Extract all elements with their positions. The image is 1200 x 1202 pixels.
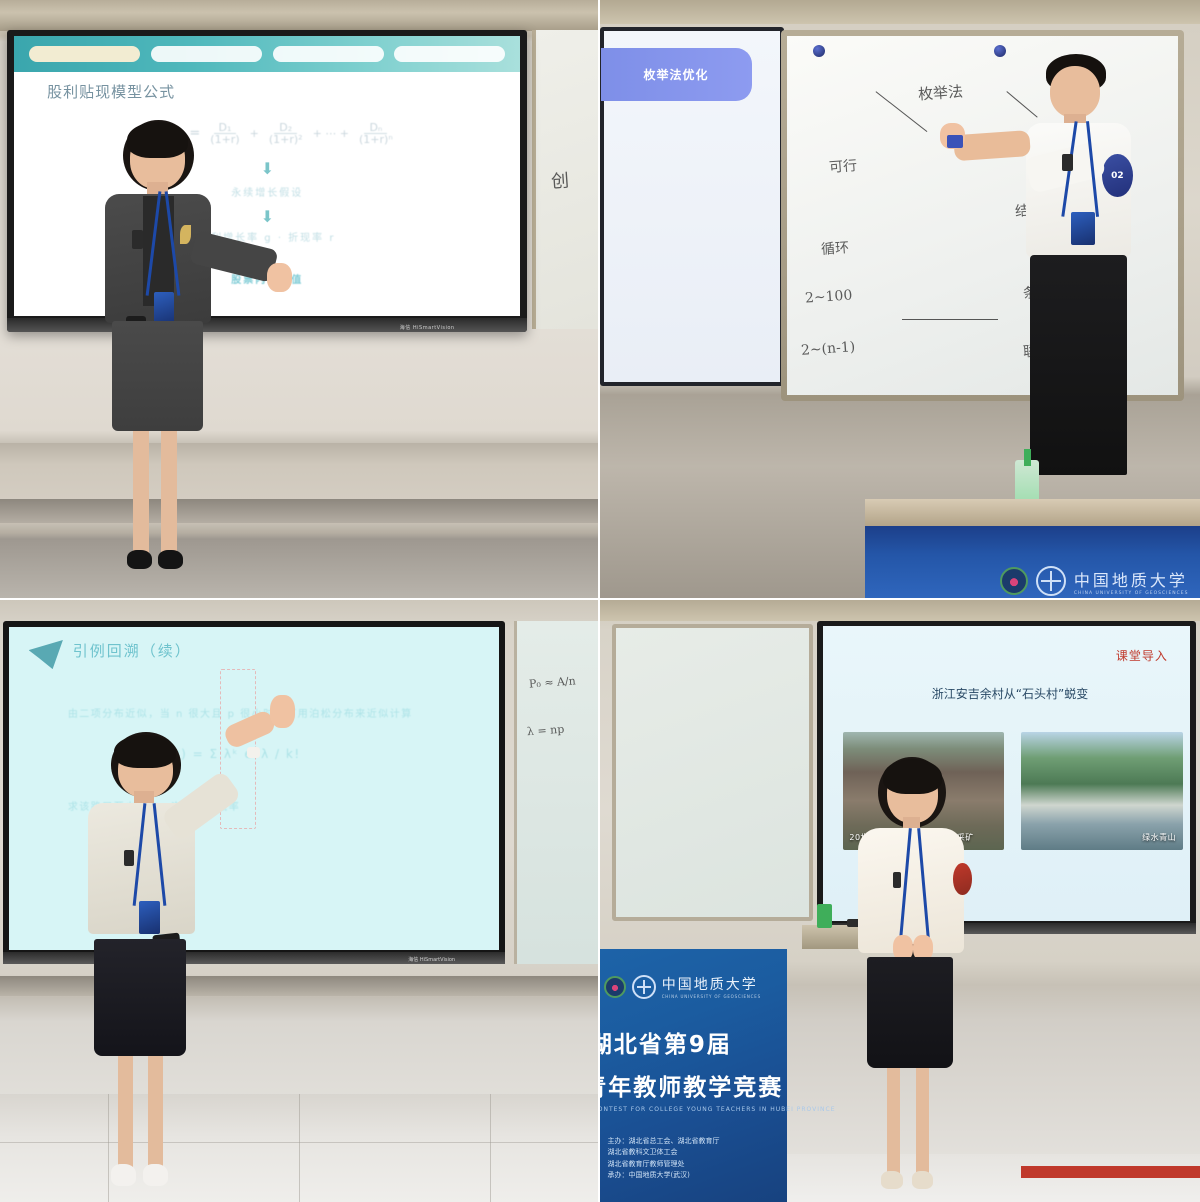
side-whiteboard [612,624,813,921]
hair [114,735,176,768]
slide-logo-icon [29,640,63,669]
university-seal-icon [1036,566,1066,596]
right-leg [148,1056,163,1169]
floor-red-stripe [1021,1166,1200,1178]
green-bottle-icon [817,904,832,928]
podium-top [865,499,1200,526]
presenter-figure: 02 [961,54,1142,532]
slide-banner-title: 枚举法优化 [644,66,709,83]
whiteboard-text-0: 枚举法 [917,80,963,104]
hair [127,122,188,158]
university-seal-icon [632,975,656,999]
slide-photo-caption: 绿水青山 [1142,832,1176,843]
right-leg [161,431,177,555]
left-hand [270,695,295,728]
slide-tab-2[interactable] [273,46,384,63]
green-seal-icon [604,976,626,998]
left-shoe [881,1171,903,1189]
projection-screen[interactable]: 枚举法优化 [600,27,784,386]
podium: 中国地质大学 CHINA UNIVERSITY OF GEOSCIENCES [865,526,1200,598]
banner-institution-en: CHINA UNIVERSITY OF GEOSCIENCES [662,994,761,999]
wristband [247,747,260,758]
slide-canvas: 枚举法优化 [604,31,780,382]
presenter-figure [84,120,239,598]
id-badge [139,901,159,934]
side-whiteboard: P₀ ≈ A/n λ = np [514,621,598,964]
magnet-icon [813,45,825,57]
ceiling-trim [600,0,1200,24]
whiteboard-text-5: 2~100 [804,288,852,307]
slide-photo-right: 绿水青山 [1021,732,1183,850]
head [1050,66,1101,119]
whiteboard-text-1: 可行 [828,155,857,177]
right-hand [267,263,292,292]
ceiling-trim [600,600,1200,621]
slide-header-bar [14,36,520,72]
slide-banner: 枚举法优化 [601,48,752,101]
whiteboard-text-0: P₀ ≈ A/n [529,674,577,690]
slide-tab-3[interactable] [394,46,505,63]
panel-top-left: 创 股利贴现模型公式 P₀ = D₁(1+r) + D₂(1+r)² + ⋯ +… [0,0,598,598]
panel-bottom-right: 课堂导入 浙江安吉余村从“石头村”蜕变 20世纪80年代，余村人开山采矿 绿水青… [600,600,1200,1202]
trousers [1030,255,1128,475]
left-shoe [127,550,152,569]
number-badge [953,863,972,894]
slide-tab-0[interactable] [29,46,140,63]
floor-tile-line [490,1094,491,1202]
banner-institution: 中国地质大学 [662,974,761,994]
left-forearm [953,130,1030,162]
left-leg [118,1056,133,1169]
display-brand-label: 海信 HiSmartVision [408,956,455,963]
podium-logo: 中国地质大学 CHINA UNIVERSITY OF GEOSCIENCES [1000,566,1189,596]
banner-organizers: 主办：湖北省总工会、湖北省教育厅 湖北省教科文卫体工会 湖北省教育厅教师管理处 … [607,1136,781,1181]
right-leg [916,1068,929,1175]
spray-nozzle-icon [1024,449,1031,467]
whiteboard-handwriting: 创 [550,167,570,194]
slide-tab-1[interactable] [151,46,262,63]
presenter-figure [66,732,233,1202]
competition-banner: 中国地质大学 CHINA UNIVERSITY OF GEOSCIENCES 湖… [600,949,787,1202]
number-badge: 02 [1102,154,1133,197]
lapel-microphone [132,230,143,249]
left-shoe [111,1164,136,1185]
podium-institution: 中国地质大学 [1074,567,1189,591]
lapel-pin-icon [180,225,191,244]
left-leg [133,431,149,555]
slide-title: 课堂导入 [1116,647,1168,664]
banner-logo: 中国地质大学 CHINA UNIVERSITY OF GEOSCIENCES [604,974,761,999]
floor-tile-line [299,1094,300,1202]
banner-headline-1-text: 湖北省第9届 [600,1032,732,1058]
whiteboard-text-7: 2~(n-1) [800,339,855,359]
podium-institution-en: CHINA UNIVERSITY OF GEOSCIENCES [1074,591,1189,596]
blouse [858,828,963,953]
slide-subtitle: 浙江安吉余村从“石头村”蜕变 [841,685,1179,702]
banner-headline-2: 青年教师教学竞赛 [600,1068,783,1102]
lapel-microphone [893,872,902,888]
right-shoe [143,1164,168,1185]
photo-collage: 创 股利贴现模型公式 P₀ = D₁(1+r) + D₂(1+r)² + ⋯ +… [0,0,1200,1200]
whiteboard-marker [947,135,963,147]
panel-bottom-left: P₀ ≈ A/n λ = np 引例回溯（续） 由二项分布近似，当 n 很大且 … [0,600,598,1202]
skirt [112,321,204,431]
skirt [94,939,186,1056]
panel-top-right: 枚举法优化 枚举法 可行 验证 循环 结论 2~100 条件 2~(n-1) 联 [600,0,1200,598]
hair [883,759,942,795]
right-shoe [158,550,183,569]
lapel-microphone [124,850,134,866]
display-brand-label: 海信 HiSmartVision [400,324,455,331]
presenter-figure [841,757,985,1202]
ceiling-trim [0,0,598,31]
whiteboard-text-1: λ = np [527,723,565,739]
id-badge [1071,212,1094,245]
slide-title: 引例回溯（续） [73,640,192,661]
right-shoe [912,1171,934,1189]
lapel-microphone [1062,154,1073,171]
green-seal-icon [1000,567,1028,595]
slide-title: 股利贴现模型公式 [47,81,175,102]
banner-headline-en: CONTEST FOR COLLEGE YOUNG TEACHERS IN HU… [600,1106,836,1113]
whiteboard-text-3: 循环 [820,237,849,259]
left-leg [887,1068,900,1175]
side-whiteboard: 创 [532,30,598,329]
skirt [867,957,954,1068]
banner-headline-1: 湖北省第9届 [600,1025,732,1059]
